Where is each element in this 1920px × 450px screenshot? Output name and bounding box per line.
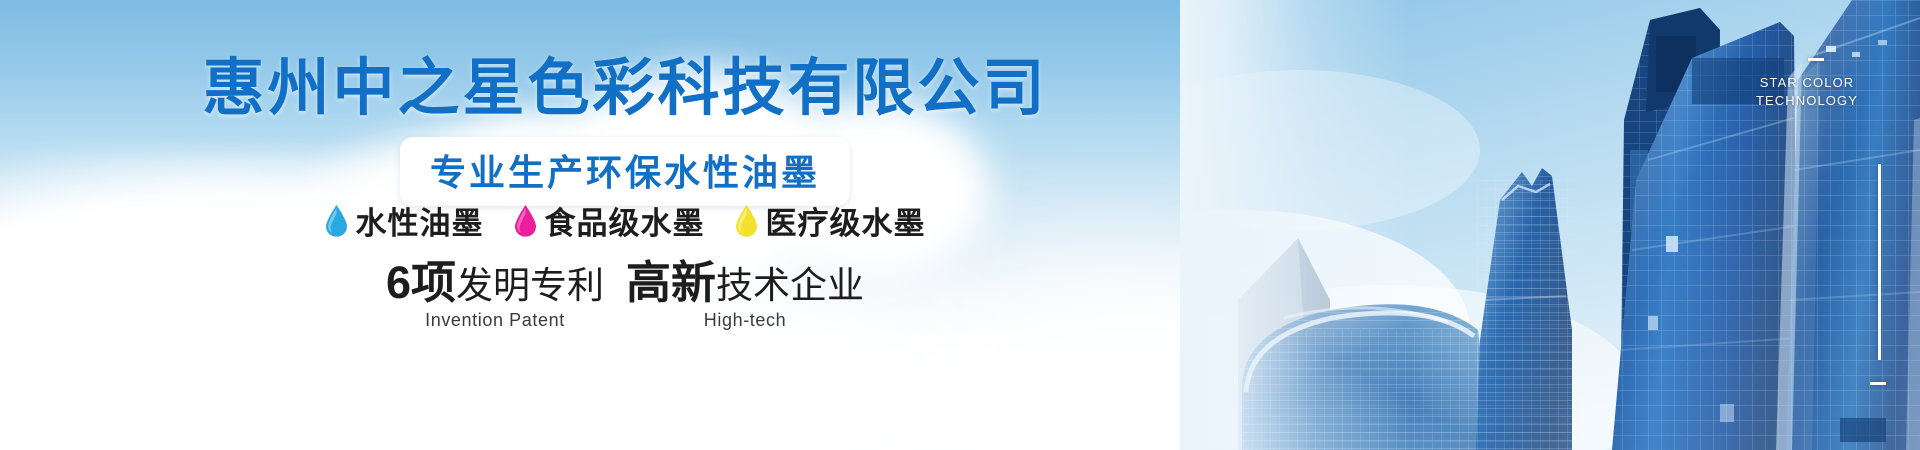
water-drop-icon <box>735 205 758 237</box>
cityscape-brand-line1: STAR COLOR <box>1732 74 1882 92</box>
rule-tick-bottom <box>1870 382 1886 385</box>
feature-label: 医疗级水墨 <box>766 198 926 243</box>
credential-cn-emphasis: 6项 <box>386 257 456 308</box>
feature-item: 医疗级水墨 <box>735 198 926 243</box>
promo-banner: STAR COLOR TECHNOLOGY Star Color 惠州中之星色彩… <box>0 0 1920 450</box>
feature-label: 水性油墨 <box>356 198 484 243</box>
credential-cn-rest: 技术企业 <box>716 265 864 306</box>
credential-en: High-tech <box>626 310 864 331</box>
vertical-rule <box>1878 164 1881 360</box>
credential-list: 6项发明专利 Invention Patent 高新技术企业 High-tech <box>0 258 1250 331</box>
feature-label: 食品级水墨 <box>545 198 705 243</box>
feature-item: 食品级水墨 <box>514 198 705 243</box>
rule-tick-top <box>1808 58 1824 61</box>
feature-list: 水性油墨 食品级水墨 医疗级水墨 <box>0 198 1250 243</box>
tagline-pill: 专业生产环保水性油墨 <box>400 137 850 206</box>
water-drop-icon <box>514 205 537 237</box>
cityscape-brand-line2: TECHNOLOGY <box>1732 92 1882 110</box>
water-drop-icon <box>325 205 348 237</box>
credential-en: Invention Patent <box>386 310 604 331</box>
tagline-row: 专业生产环保水性油墨 <box>0 137 1250 206</box>
credential-cn: 高新技术企业 <box>626 258 864 308</box>
credential-cn-emphasis: 高新 <box>626 257 716 308</box>
banner-content: 惠州中之星色彩科技有限公司 专业生产环保水性油墨 水性油墨 食品级水墨 <box>0 0 1250 450</box>
credential-item: 6项发明专利 Invention Patent <box>386 258 604 331</box>
credential-cn: 6项发明专利 <box>386 258 604 308</box>
cityscape-brand-label: STAR COLOR TECHNOLOGY <box>1732 74 1882 110</box>
credential-cn-rest: 发明专利 <box>456 265 604 306</box>
credential-item: 高新技术企业 High-tech <box>626 258 864 331</box>
company-headline: 惠州中之星色彩科技有限公司 <box>0 56 1250 121</box>
cityscape-image <box>1180 0 1920 450</box>
feature-item: 水性油墨 <box>325 198 484 243</box>
